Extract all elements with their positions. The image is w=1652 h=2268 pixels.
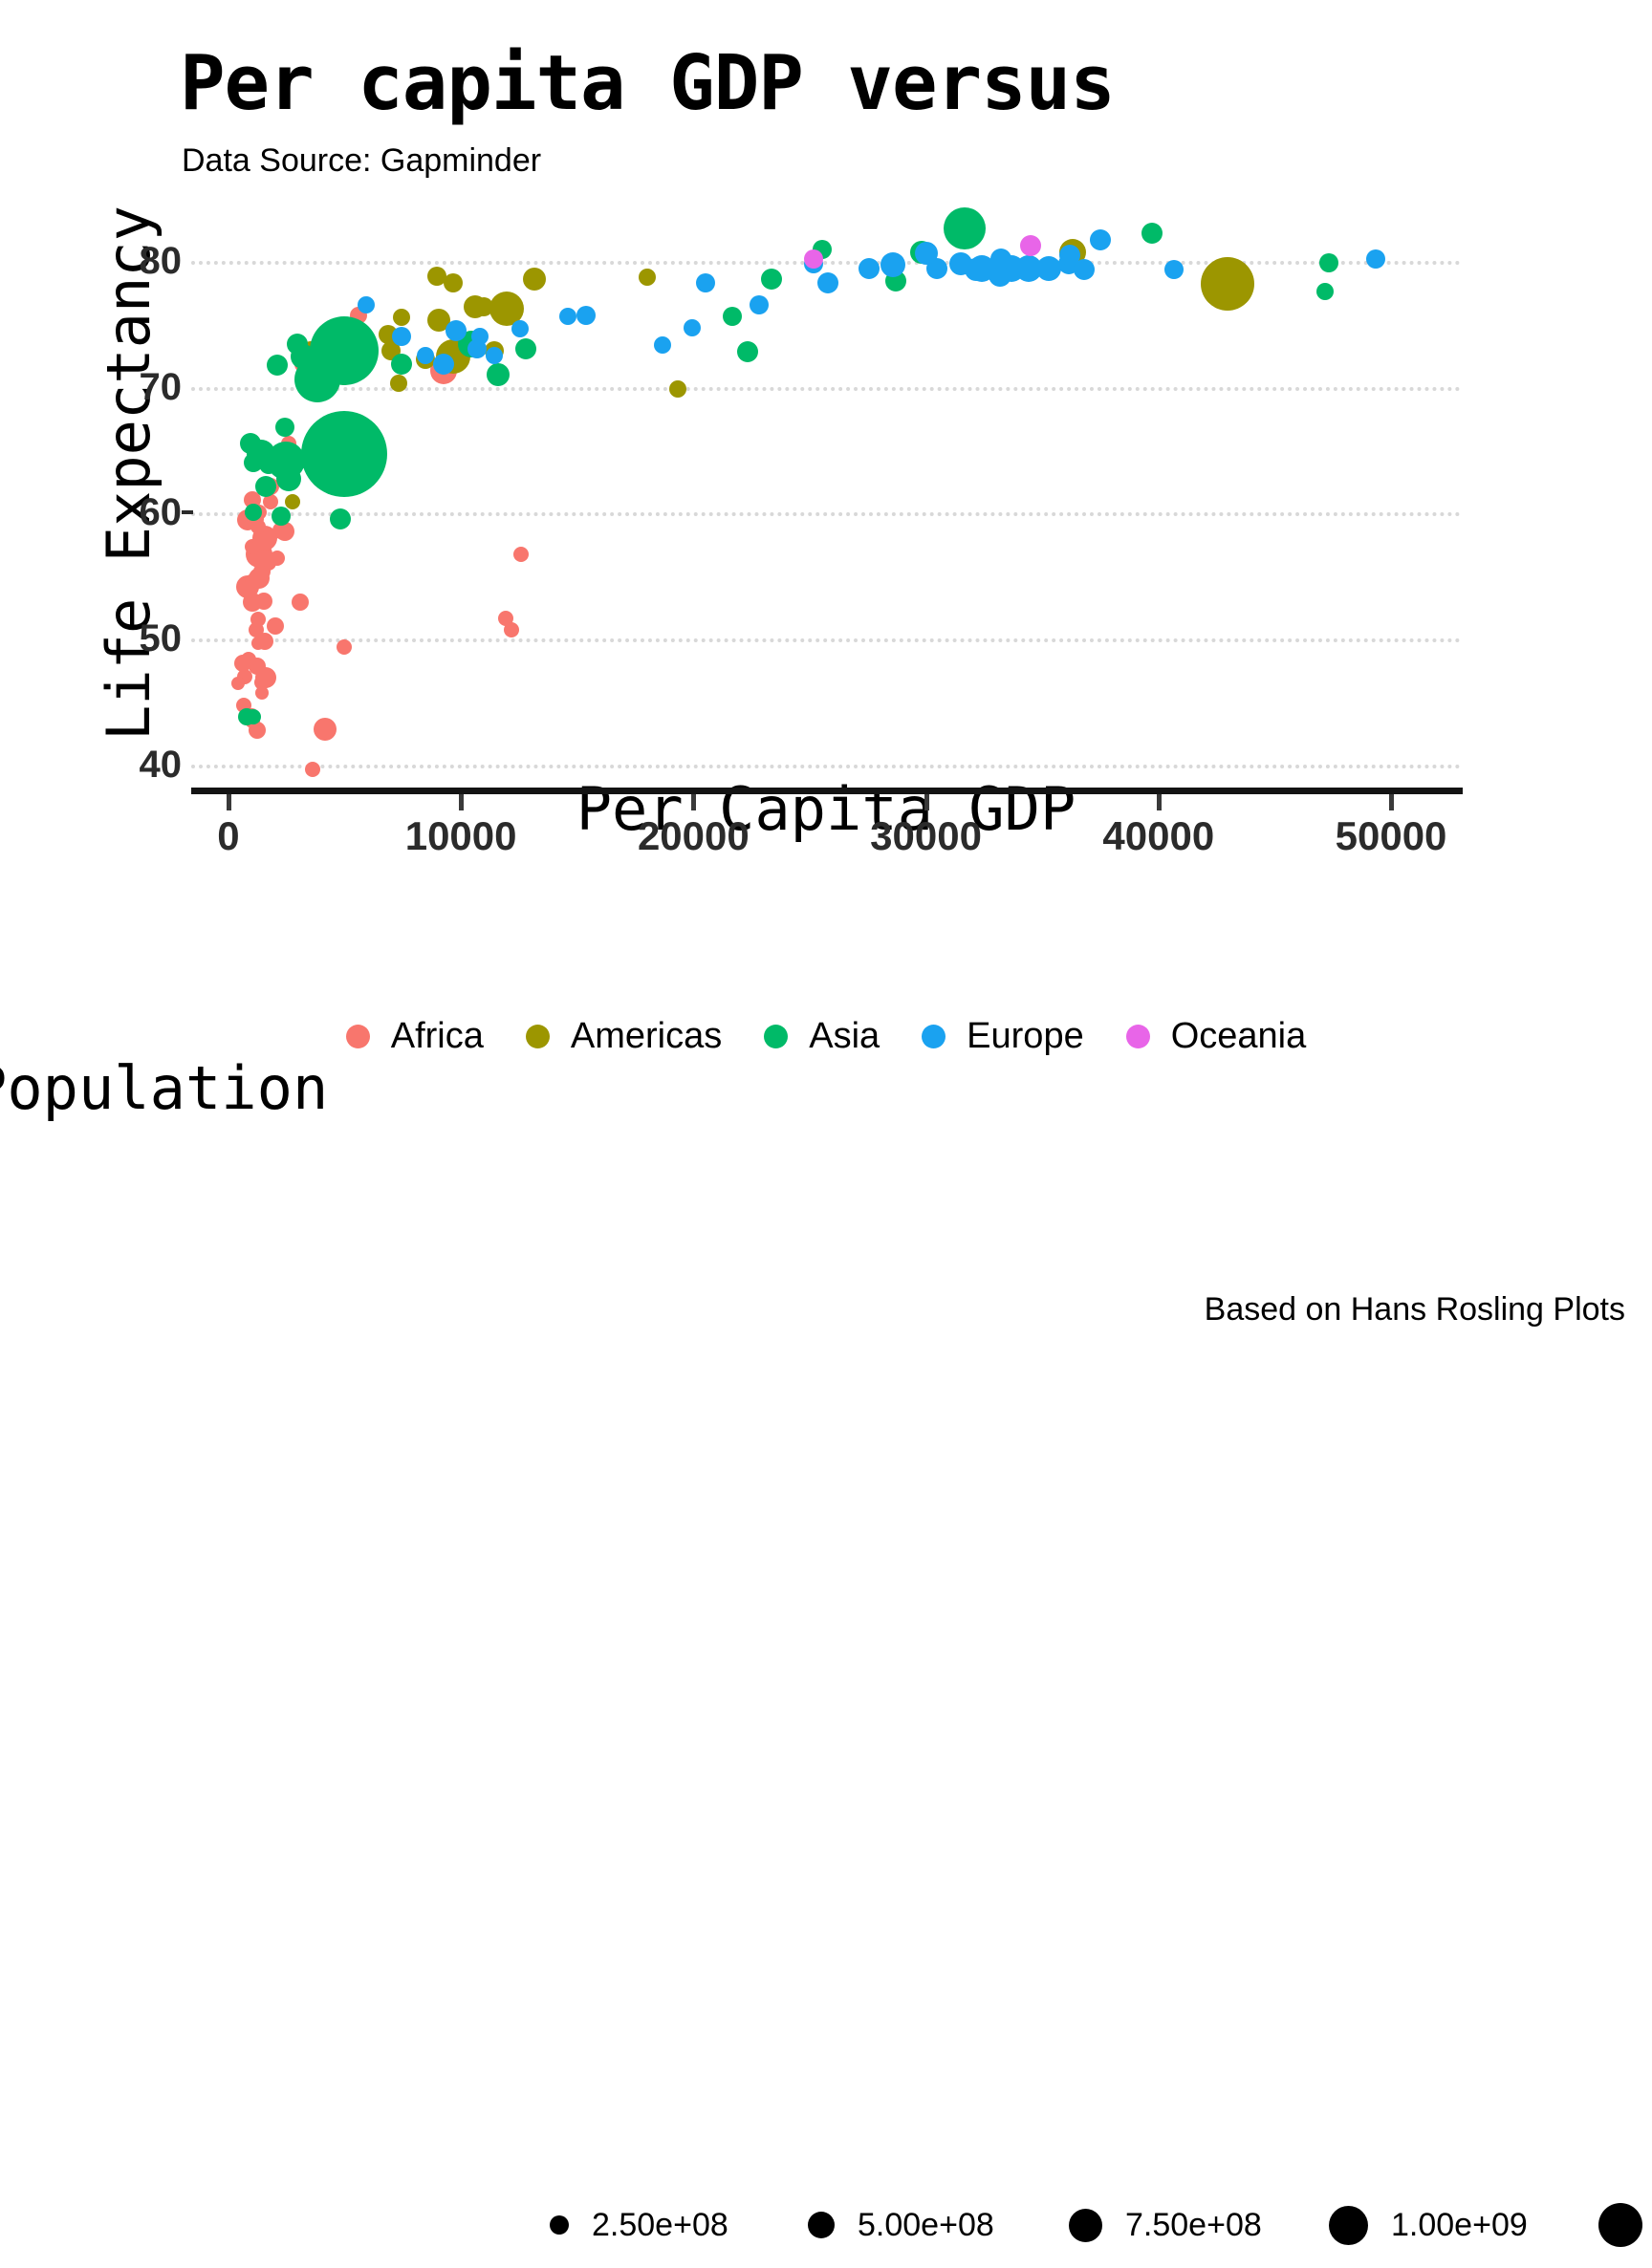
size-legend-label: 1.00e+09 [1391, 2206, 1528, 2244]
size-legend-dot [550, 2215, 569, 2235]
scatter-point [654, 336, 671, 354]
legend-color-dot [1126, 1025, 1150, 1048]
scatter-point [915, 242, 938, 265]
size-legend-dot [1598, 2203, 1642, 2247]
scatter-point [859, 258, 880, 279]
legend-color-dot [526, 1025, 550, 1048]
scatter-point [1059, 245, 1080, 266]
size-legend-label: 2.50e+08 [592, 2206, 728, 2244]
scatter-point [391, 354, 412, 375]
legend-label: Oceania [1171, 1015, 1307, 1057]
legend-entry-oceania[interactable]: Oceania [1126, 1015, 1307, 1057]
scatter-point [314, 718, 337, 741]
scatter-point [944, 207, 986, 249]
scatter-point [696, 273, 715, 292]
chart-caption: Based on Hans Rosling Plots [1205, 1290, 1625, 1328]
size-legend-entry[interactable]: 7.50e+08 [1069, 2182, 1262, 2268]
legend-color-dot [922, 1025, 946, 1048]
scatter-point [817, 272, 838, 293]
size-legend-dot [1329, 2206, 1368, 2245]
scatter-point [1090, 229, 1111, 250]
scatter-point [417, 347, 434, 364]
scatter-point [1316, 283, 1334, 300]
scatter-point [234, 655, 251, 672]
size-legend-entry[interactable]: 1.00e+09 [1329, 2182, 1528, 2268]
scatter-point [576, 306, 596, 325]
legend-entry-americas[interactable]: Americas [526, 1015, 722, 1057]
scatter-point [255, 686, 269, 700]
legend-label: Americas [571, 1015, 722, 1057]
scatter-point [245, 504, 262, 521]
scatter-point [292, 594, 309, 611]
size-legend-dot [1069, 2209, 1102, 2242]
scatter-point [511, 320, 529, 337]
gridline [191, 765, 1461, 768]
legend-color-dot [346, 1025, 370, 1048]
y-tick-label: 70 [67, 368, 182, 406]
scatter-point [238, 708, 255, 725]
scatter-point [427, 267, 446, 286]
scatter-point [287, 334, 308, 355]
scatter-point [250, 612, 266, 627]
scatter-point [337, 639, 352, 655]
x-tick-label: 50000 [1286, 814, 1496, 858]
scatter-point [1366, 249, 1385, 269]
legend-label: Europe [967, 1015, 1084, 1057]
scatter-point [467, 339, 487, 358]
scatter-point [523, 268, 546, 291]
y-tick-label: 50 [67, 619, 182, 658]
scatter-point [1319, 253, 1338, 272]
scatter-point [1141, 223, 1163, 244]
scatter-point [330, 508, 351, 529]
scatter-point [669, 380, 686, 398]
legend-label: Asia [809, 1015, 880, 1057]
x-tick-mark [227, 794, 231, 810]
gridline [191, 261, 1461, 265]
scatter-point [515, 338, 536, 359]
scatter-point [1164, 260, 1184, 279]
x-tick-mark [924, 794, 929, 810]
scatter-point [390, 375, 407, 392]
continent-legend: AfricaAmericasAsiaEuropeOceania [0, 1015, 1652, 1057]
scatter-point [433, 354, 454, 375]
scatter-point [267, 617, 284, 635]
scatter-point [990, 248, 1011, 270]
scatter-point [244, 453, 263, 472]
scatter-point [750, 295, 769, 314]
scatter-point [684, 319, 701, 336]
page-title: Per capita GDP versus [180, 42, 1115, 124]
gridline [191, 512, 1461, 516]
size-legend-dot [808, 2212, 835, 2238]
scatter-point [949, 252, 972, 275]
x-tick-label: 40000 [1054, 814, 1264, 858]
y-tick-label: 80 [67, 242, 182, 280]
gridline [191, 387, 1461, 391]
x-tick-mark [459, 794, 464, 810]
y-tick-label: 40 [67, 745, 182, 784]
legend-color-dot [764, 1025, 788, 1048]
scatter-point [487, 363, 510, 386]
x-tick-label: 10000 [356, 814, 566, 858]
population-legend: 2.50e+085.00e+087.50e+081.00e+09 [0, 1088, 1652, 1183]
x-tick-mark [1389, 794, 1394, 810]
x-tick-mark [691, 794, 696, 810]
scatter-point [255, 667, 276, 688]
size-legend-label: 5.00e+08 [858, 2206, 994, 2244]
legend-entry-africa[interactable]: Africa [346, 1015, 484, 1057]
scatter-point [301, 411, 387, 497]
scatter-point [255, 593, 272, 610]
scatter-point [393, 309, 410, 326]
size-legend-entry[interactable]: 2.50e+08 [550, 2182, 728, 2268]
scatter-point [351, 353, 372, 374]
scatter-point [559, 308, 576, 325]
scatter-point [270, 551, 285, 566]
size-legend-label: 7.50e+08 [1125, 2206, 1262, 2244]
scatter-point [513, 547, 529, 562]
scatter-point [639, 269, 656, 286]
x-axis-line [191, 788, 1463, 794]
scatter-point [231, 677, 245, 690]
scatter-point [446, 320, 467, 341]
chart-subtitle: Data Source: Gapminder [182, 141, 541, 180]
scatter-point [761, 269, 782, 290]
scatter-point [305, 762, 320, 777]
scatter-point [1015, 255, 1042, 282]
scatter-point [880, 252, 905, 277]
scatter-point [272, 507, 291, 526]
scatter-point [358, 296, 375, 313]
scatter-point [267, 355, 288, 376]
scatter-point [285, 494, 300, 509]
y-tick-label: 60 [67, 493, 182, 531]
scatter-point [723, 307, 742, 326]
y-tick-mark [182, 510, 193, 514]
x-tick-label: 20000 [588, 814, 798, 858]
x-tick-mark [1157, 794, 1162, 810]
scatter-point [310, 345, 331, 366]
x-tick-label: 30000 [821, 814, 1032, 858]
legend-label: Africa [391, 1015, 484, 1057]
plot-area [191, 205, 1461, 789]
scatter-point [474, 297, 493, 316]
scatter-point [737, 341, 758, 362]
legend-entry-europe[interactable]: Europe [922, 1015, 1084, 1057]
size-legend-entry[interactable]: 5.00e+08 [808, 2182, 994, 2268]
scatter-point [256, 633, 273, 650]
scatter-point [804, 249, 823, 269]
legend-entry-asia[interactable]: Asia [764, 1015, 880, 1057]
scatter-point [275, 418, 294, 437]
scatter-point [276, 466, 301, 491]
gridline [191, 638, 1461, 642]
scatter-point [504, 622, 519, 637]
y-axis-ticks: 4050607080 [48, 205, 182, 789]
size-legend-entry[interactable] [1598, 2182, 1642, 2268]
scatter-point [1020, 235, 1041, 256]
scatter-point [255, 476, 276, 497]
scatter-point [1201, 257, 1254, 311]
scatter-point [240, 433, 261, 454]
scatter-point [486, 347, 503, 364]
x-tick-label: 0 [123, 814, 334, 858]
scatter-point [392, 327, 411, 346]
